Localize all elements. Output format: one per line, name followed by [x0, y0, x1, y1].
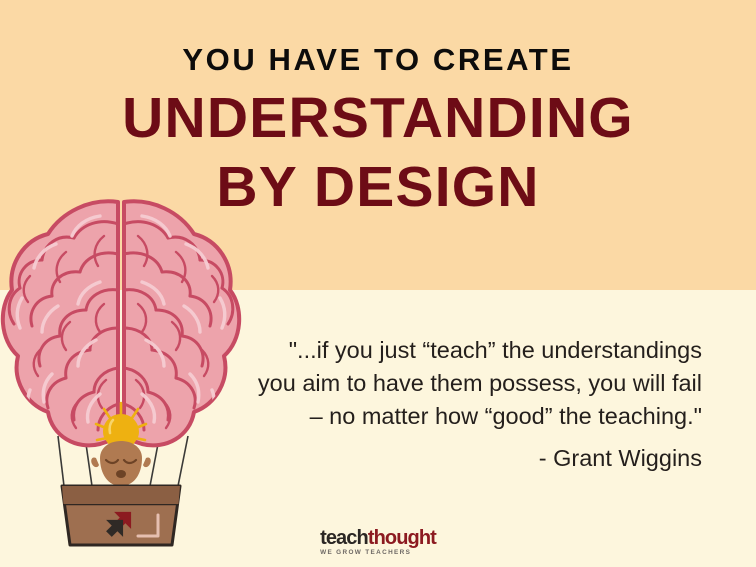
quote-line-1: "...if you just “teach” the understandin… [222, 334, 702, 367]
headline-block: YOU HAVE TO CREATE UNDERSTANDING BY DESI… [0, 44, 756, 216]
rope-right-inner [150, 444, 158, 486]
headline-line-2: BY DESIGN [0, 158, 756, 216]
ear-right [143, 457, 151, 467]
brand-logo-inner: teachthought WE GROW TEACHERS [320, 528, 436, 556]
brain-lobe-left [3, 201, 118, 445]
ear-left [91, 457, 99, 467]
rope-left-inner [86, 444, 92, 486]
quote-line-2: you aim to have them possess, you will f… [222, 367, 702, 400]
quote-attribution: - Grant Wiggins [222, 442, 702, 475]
poster-canvas: YOU HAVE TO CREATE UNDERSTANDING BY DESI… [0, 0, 756, 567]
brand-logo: teachthought WE GROW TEACHERS [0, 528, 756, 559]
basket-rim-band [62, 486, 180, 504]
quote-block: "...if you just “teach” the understandin… [222, 334, 702, 476]
brand-logo-tagline: WE GROW TEACHERS [320, 550, 436, 556]
quote-line-3: – no matter how “good” the teaching." [222, 400, 702, 433]
brand-logo-wordmark: teachthought [320, 528, 436, 548]
brand-logo-word-teach: teach [320, 527, 368, 549]
head-shape [100, 441, 142, 486]
rope-right-outer [178, 436, 188, 486]
brain-balloon-illustration [0, 190, 250, 560]
headline-kicker: YOU HAVE TO CREATE [0, 44, 756, 75]
brand-logo-word-thought: thought [368, 527, 436, 549]
headline-line-1: UNDERSTANDING [0, 89, 756, 147]
passenger-head [91, 441, 151, 486]
mouth [116, 470, 126, 478]
rope-left-outer [58, 436, 64, 486]
